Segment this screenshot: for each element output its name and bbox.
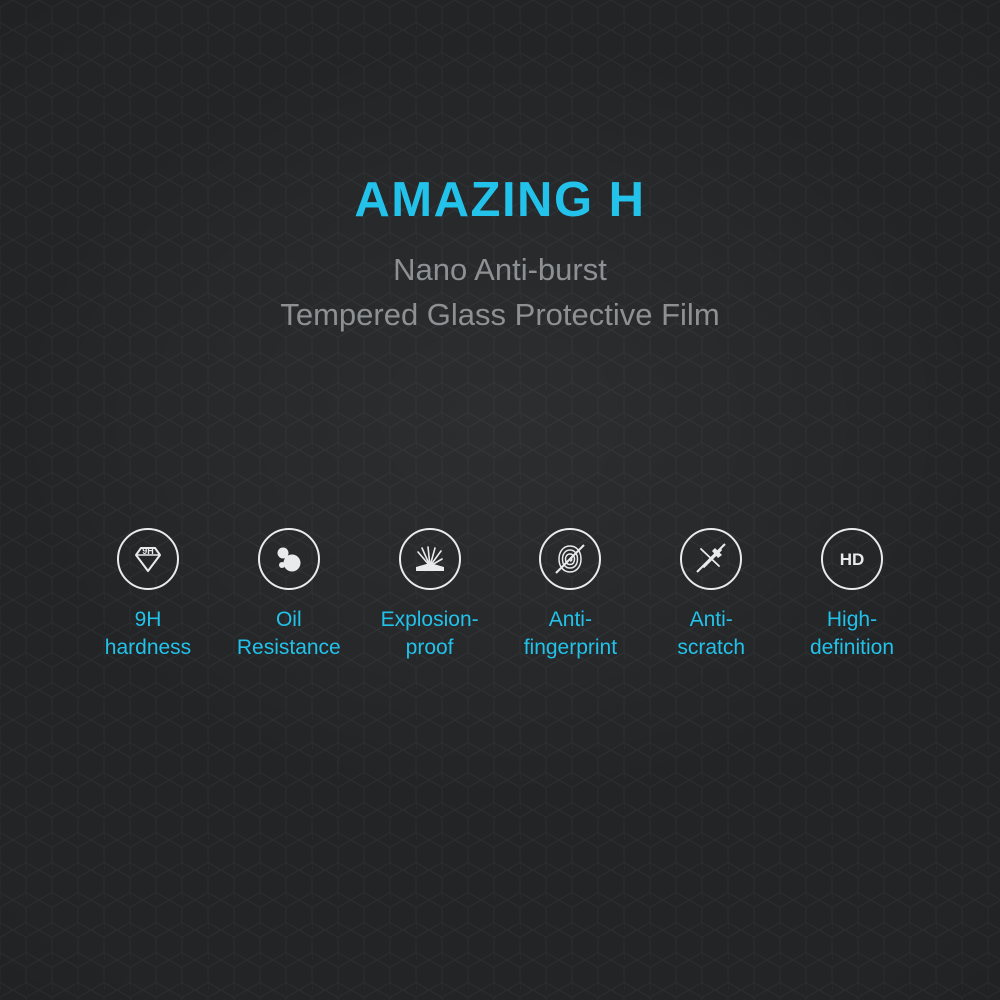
feature-item-high-definition: HD High- definition [782, 528, 922, 662]
page-subtitle: Nano Anti-burst Tempered Glass Protectiv… [0, 247, 1000, 337]
feature-item-anti-scratch: Anti- scratch [641, 528, 781, 662]
diamond-9h-icon: 9H [128, 539, 168, 579]
subtitle-line-1: Nano Anti-burst [0, 247, 1000, 292]
shatter-burst-icon [410, 539, 450, 579]
feature-list: 9H 9H hardness Oil Resistance [78, 528, 922, 662]
page-title: AMAZING H [0, 172, 1000, 228]
icon-circle: HD [821, 528, 883, 590]
icon-text-hd: HD [840, 550, 865, 569]
feature-item-anti-fingerprint: Anti- fingerprint [500, 528, 640, 662]
feature-label: High- definition [810, 606, 894, 662]
feature-label: Explosion- proof [381, 606, 479, 662]
icon-circle [399, 528, 461, 590]
icon-circle [258, 528, 320, 590]
subtitle-line-2: Tempered Glass Protective Film [0, 292, 1000, 337]
oil-drop-icon [269, 539, 309, 579]
feature-item-explosion-proof: Explosion- proof [360, 528, 500, 662]
icon-circle [539, 528, 601, 590]
feature-label: Anti- scratch [677, 606, 745, 662]
feature-label: 9H hardness [105, 606, 191, 662]
knife-scratch-icon [691, 539, 731, 579]
fingerprint-icon [550, 539, 590, 579]
feature-label: Oil Resistance [237, 606, 341, 662]
feature-label: Anti- fingerprint [524, 606, 617, 662]
feature-item-oil-resistance: Oil Resistance [219, 528, 359, 662]
icon-circle: 9H [117, 528, 179, 590]
feature-item-9h-hardness: 9H 9H hardness [78, 528, 218, 662]
icon-text-9h: 9H [142, 546, 154, 556]
product-banner: AMAZING H Nano Anti-burst Tempered Glass… [0, 0, 1000, 1000]
icon-circle [680, 528, 742, 590]
hd-icon: HD [830, 537, 874, 581]
